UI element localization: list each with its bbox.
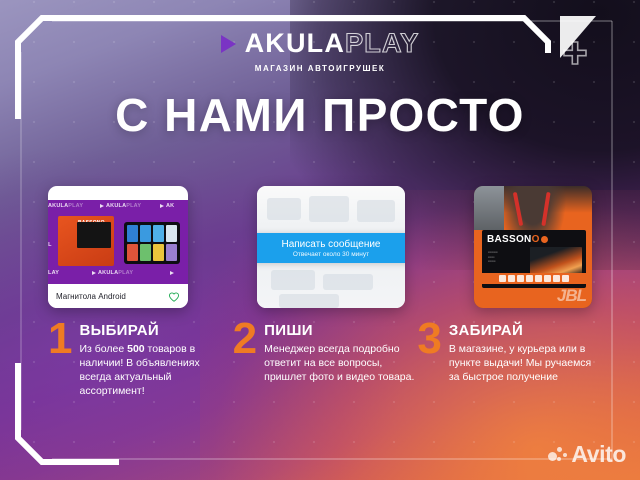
avito-dots-icon xyxy=(548,446,567,463)
logo: AKULAPLAY xyxy=(221,30,420,57)
step-number: 3 xyxy=(417,322,439,398)
step-description: Менеджер всегда подробно ответит на все … xyxy=(264,342,417,384)
step-item-3: 3 ЗАБИРАЙ В магазине, у курьера или в пу… xyxy=(417,322,602,398)
photo-product-brand: BASSONO xyxy=(487,234,548,245)
logo-accent-text: PLAY xyxy=(345,28,419,58)
step-description: Из более 500 товаров в наличии! В объявл… xyxy=(79,342,232,398)
photo-product-box: BASSONO ▪▪▪▪▪▪▪▪▪▪▪▪▪▪▪▪▪▪▪▪▪▪ xyxy=(482,230,586,288)
heart-icon[interactable] xyxy=(168,290,180,302)
card-pickup-photo: BASSONO ▪▪▪▪▪▪▪▪▪▪▪▪▪▪▪▪▪▪▪▪▪▪ JBL xyxy=(474,186,592,308)
photo-brand-dot-icon xyxy=(541,236,548,243)
play-triangle-icon xyxy=(221,35,236,53)
listing-box-screen xyxy=(77,222,111,248)
photo-box-screen xyxy=(530,247,582,274)
step-title: ЗАБИРАЙ xyxy=(449,323,602,339)
step-number: 1 xyxy=(48,322,70,398)
cards-row: AKULAPLAY AKULAPLAY AK AKULAPLAY AKULAPL… xyxy=(48,186,592,308)
step-title: ПИШИ xyxy=(264,323,417,339)
listing-head-unit xyxy=(124,222,180,264)
listing-photo: AKULAPLAY AKULAPLAY AK AKULAPLAY AKULAPL… xyxy=(48,200,188,284)
step-description: В магазине, у курьера или в пункте выдач… xyxy=(449,342,602,384)
photo-box-feature-strip xyxy=(482,273,586,284)
chat-message-button[interactable]: Написать сообщение Отвечает около 30 мин… xyxy=(257,233,405,263)
brand-tagline: МАГАЗИН АВТОИГРУШЕК xyxy=(255,64,385,73)
avito-label: Avito xyxy=(571,443,626,466)
card-chat: Написать сообщение Отвечает около 30 мин… xyxy=(257,186,405,308)
step-item-2: 2 ПИШИ Менеджер всегда подробно ответит … xyxy=(233,322,418,398)
card-product-listing: AKULAPLAY AKULAPLAY AK AKULAPLAY AKULAPL… xyxy=(48,186,188,308)
step-title: ВЫБИРАЙ xyxy=(79,323,232,339)
photo-shelf xyxy=(474,186,504,230)
page-title: С НАМИ ПРОСТО xyxy=(0,92,640,138)
photo-brand-text: BASSON xyxy=(487,234,532,245)
step-number: 2 xyxy=(233,322,255,398)
photo-box-blurb: ▪▪▪▪▪▪▪▪▪▪▪▪▪▪▪▪▪▪▪▪▪▪ xyxy=(488,250,526,264)
photo-overlay-brand: JBL xyxy=(557,286,586,306)
chat-reply-time: Отвечает около 30 минут xyxy=(293,251,369,258)
brand-header: AKULAPLAY МАГАЗИН АВТОИГРУШЕК xyxy=(0,30,640,73)
listing-product-box: BASSONO xyxy=(58,216,114,266)
chat-button-label: Написать сообщение xyxy=(281,239,380,250)
avito-watermark: Avito xyxy=(548,443,626,466)
listing-caption-bar: Магнитола Android xyxy=(48,284,188,308)
logo-main-text: AKULA xyxy=(245,28,346,58)
steps-row: 1 ВЫБИРАЙ Из более 500 товаров в наличии… xyxy=(48,322,602,398)
step-item-1: 1 ВЫБИРАЙ Из более 500 товаров в наличии… xyxy=(48,322,233,398)
photo-brand-tail: O xyxy=(532,234,540,245)
listing-title: Магнитола Android xyxy=(56,292,126,301)
